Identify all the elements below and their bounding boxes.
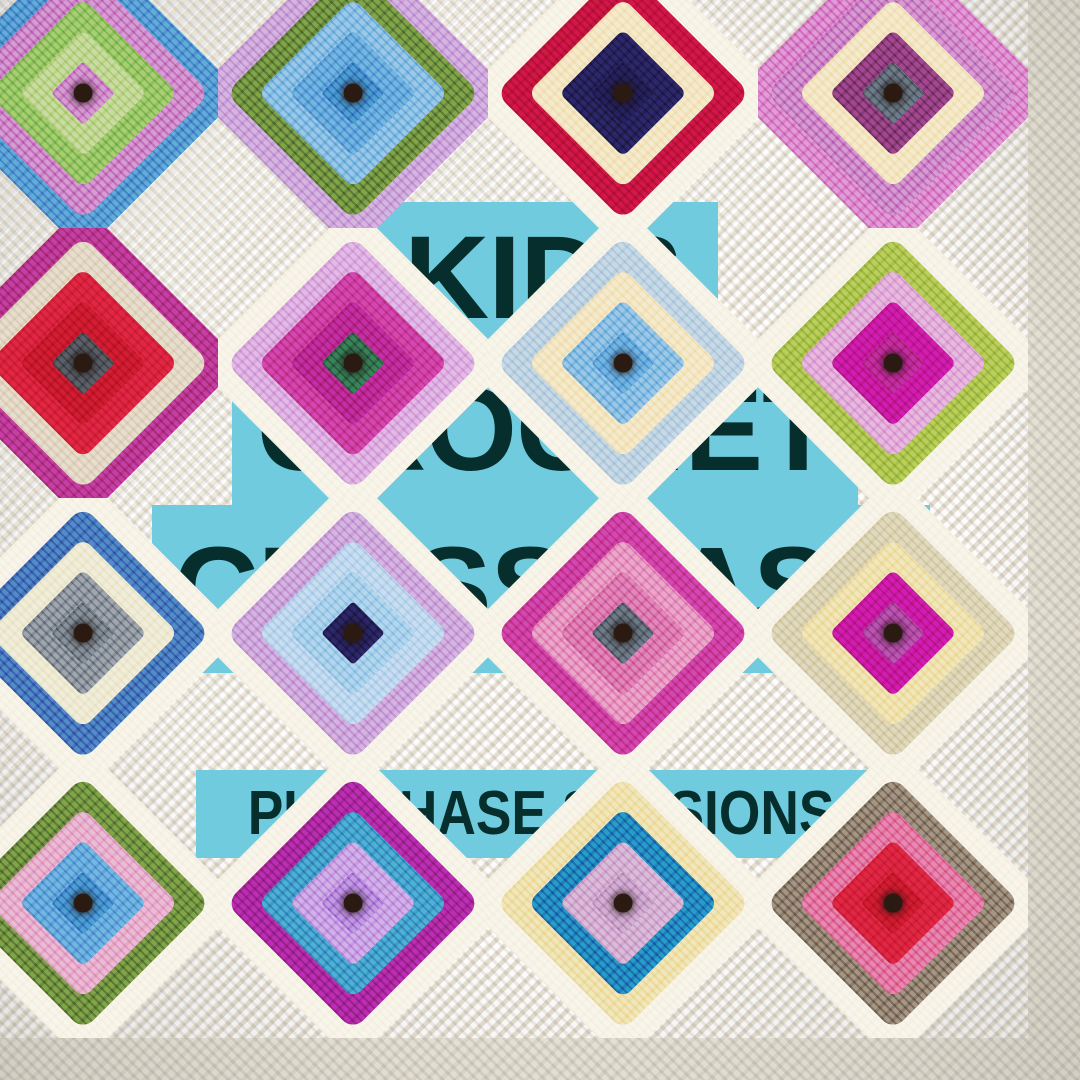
granny-square <box>218 0 488 228</box>
square-center-hole <box>614 894 633 913</box>
granny-square <box>758 0 1028 228</box>
granny-square <box>0 228 218 498</box>
square-center-hole <box>74 624 93 643</box>
granny-square <box>0 768 218 1038</box>
square-center-hole <box>344 894 363 913</box>
square-center-hole <box>884 894 903 913</box>
square-center-hole <box>884 354 903 373</box>
square-center-hole <box>74 354 93 373</box>
square-center-hole <box>344 84 363 103</box>
granny-square <box>0 0 218 228</box>
square-center-hole <box>74 84 93 103</box>
square-center-hole <box>344 354 363 373</box>
square-center-hole <box>614 84 633 103</box>
square-center-hole <box>614 624 633 643</box>
poster-canvas: KIDS CROCHET CLASS PASS PURCHASE SESSION… <box>0 0 1080 1080</box>
granny-square <box>488 0 758 228</box>
square-center-hole <box>884 624 903 643</box>
square-center-hole <box>74 894 93 913</box>
square-center-hole <box>614 354 633 373</box>
square-center-hole <box>344 624 363 643</box>
square-center-hole <box>884 84 903 103</box>
